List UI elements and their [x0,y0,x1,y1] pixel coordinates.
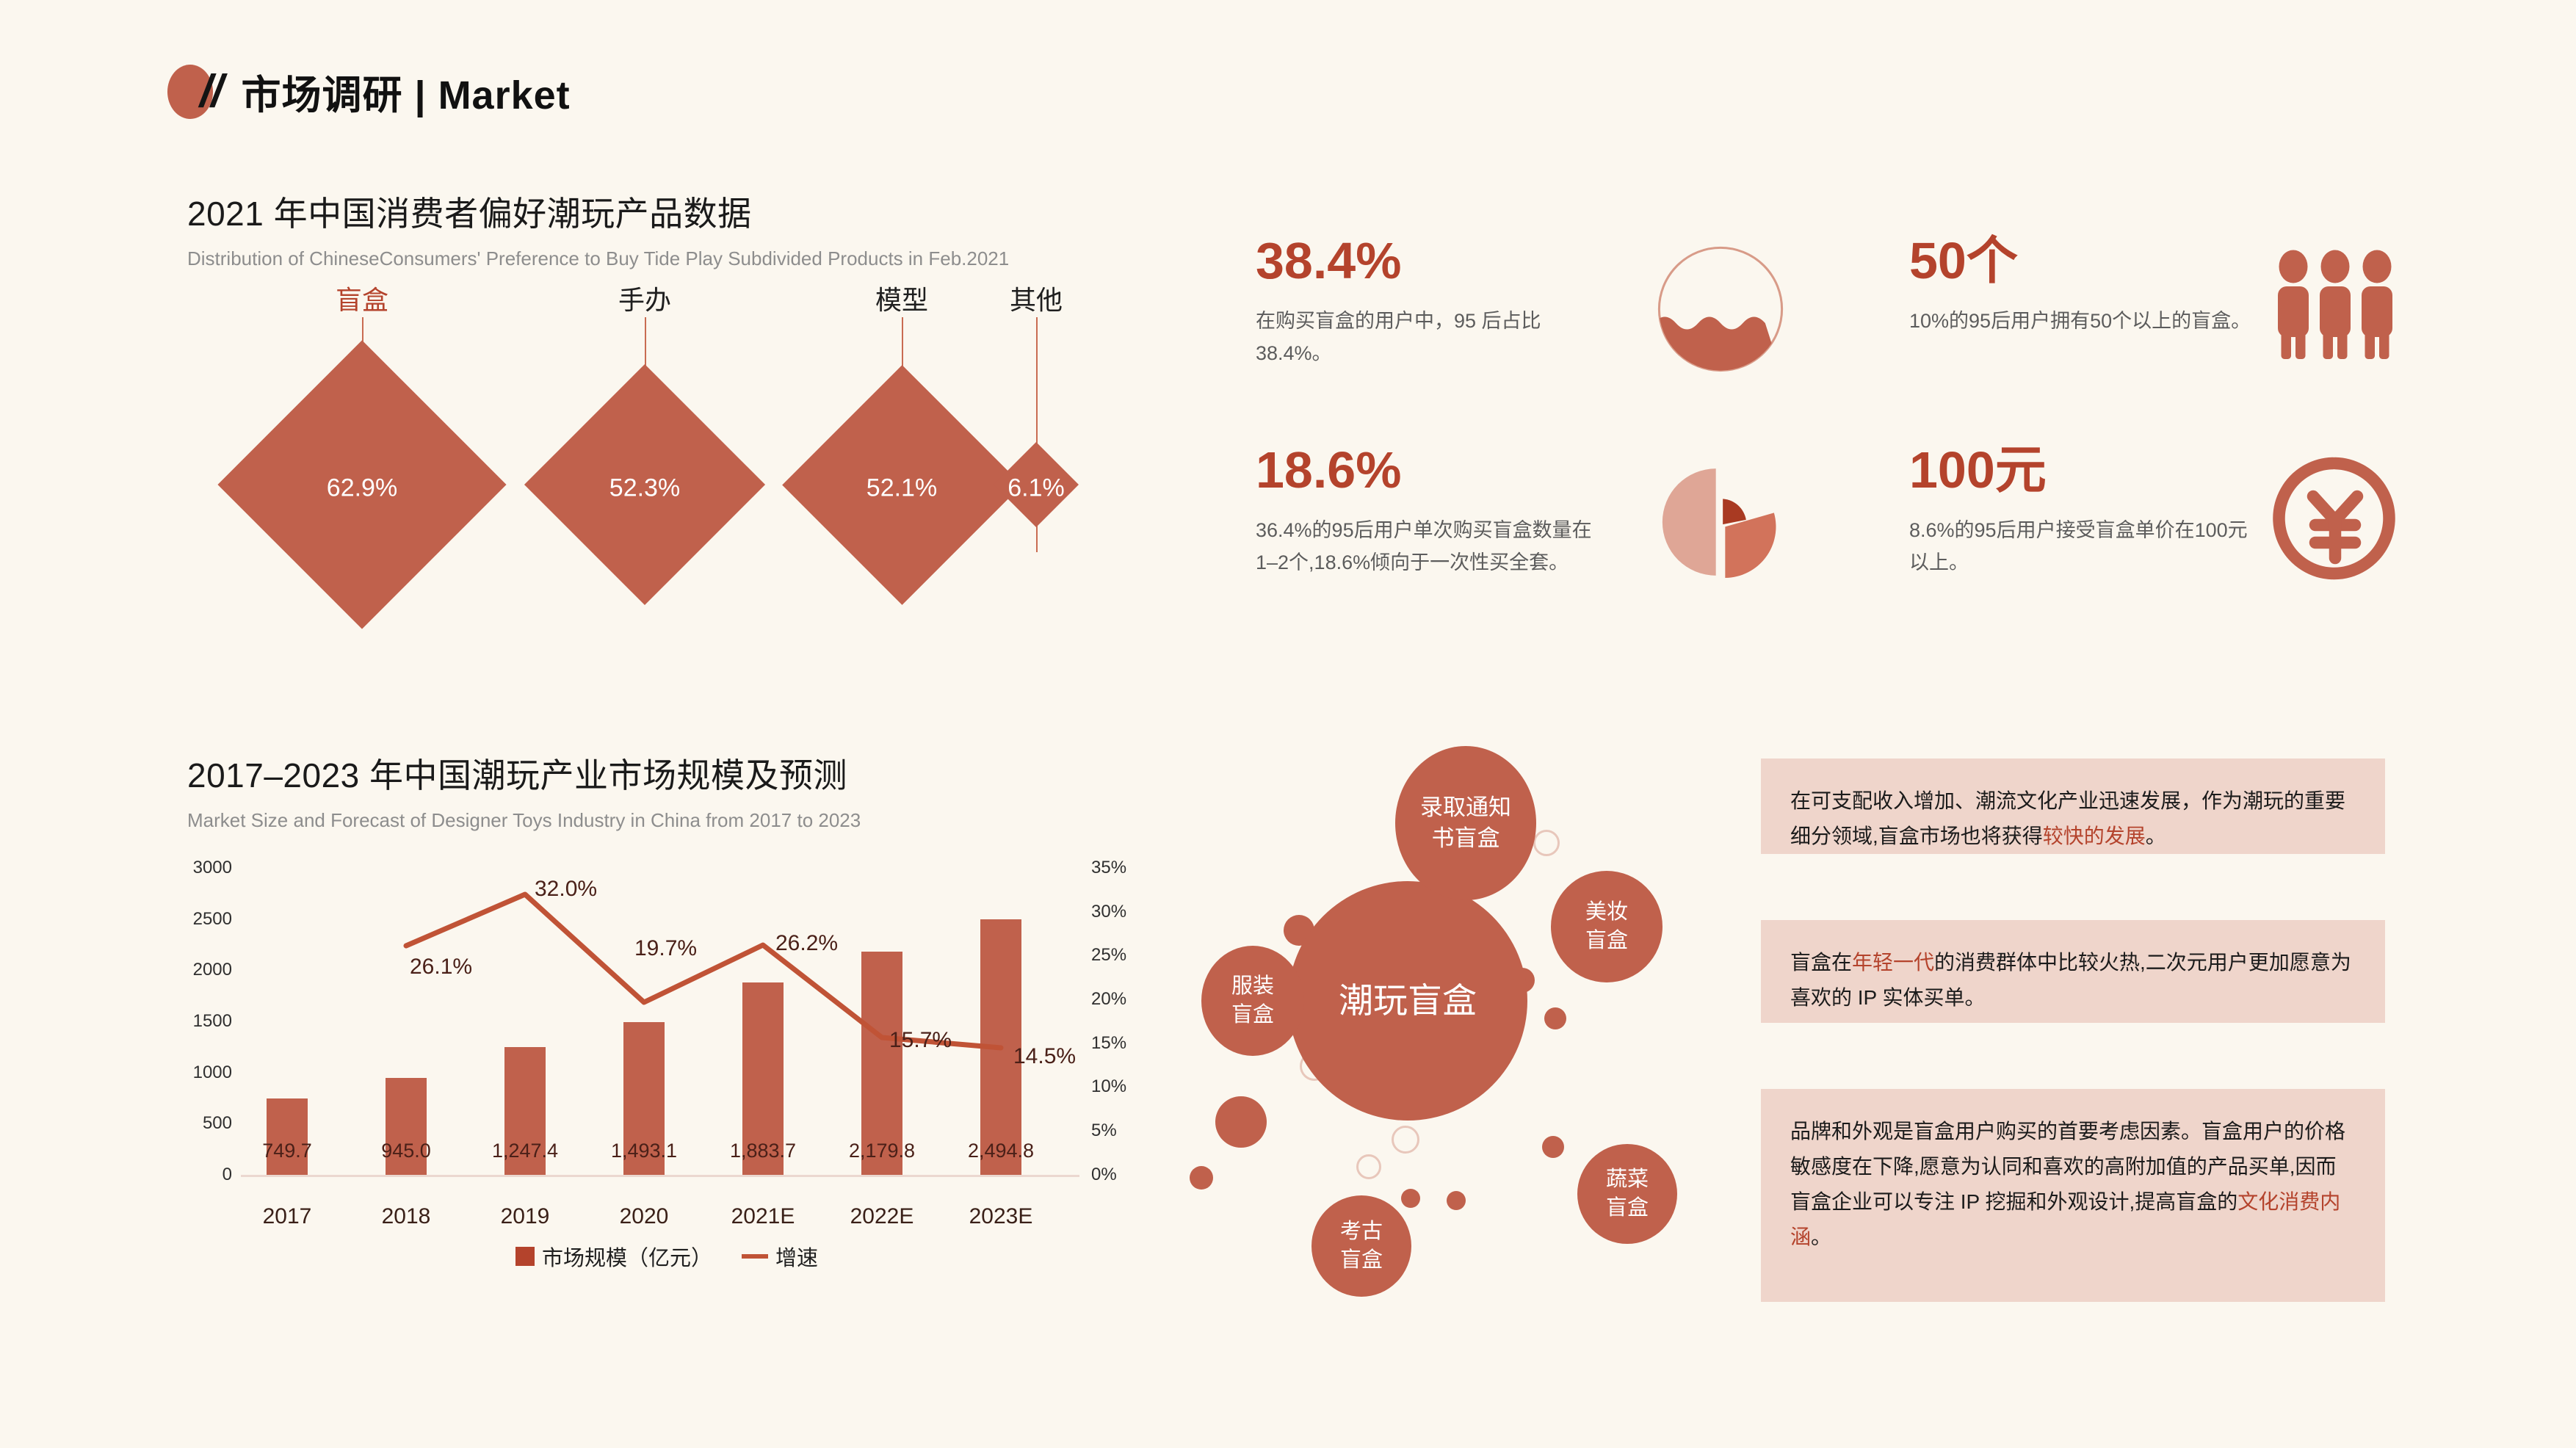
note-highlight-1: 年轻一代 [1852,951,1934,974]
bubble-ring-6 [1533,830,1560,856]
bar-value-2019: 1,247.4 [492,1140,558,1162]
note-suffix-0: 。 [2146,825,2166,847]
legend-square-icon [515,1247,535,1266]
bubble-vegetable: 蔬菜 盲盒 [1577,1144,1677,1244]
kpi-desc-0: 在购买盲盒的用户中，95 后占比 38.4%。 [1256,305,1601,369]
bubble-clothing: 服装 盲盒 [1201,946,1304,1056]
kpi-desc-3: 8.6%的95后用户接受盲盒单价在100元以上。 [1909,515,2254,579]
bubble-dot-7 [1401,1189,1420,1208]
legend-line-icon [742,1254,768,1259]
kpi-desc-2: 36.4%的95后用户单次购买盲盒数量在1–2个,18.6%倾向于一次性买全套。 [1256,515,1601,579]
bubble-dot-6 [1542,1136,1564,1158]
bar-value-2021E: 1,883.7 [730,1140,796,1162]
diamond-chart: 盲盒 手办 模型 其他 62.9% 52.3% 52.1% 6.1% [167,279,1195,690]
bubble-diagram: 潮玩盲盒 录取通知 书盲盒 美妆 盲盒 服装 盲盒 考古 盲盒 蔬菜 盲盒 [1168,734,1770,1248]
market-title: 2017–2023 年中国潮玩产业市场规模及预测 [187,749,1164,797]
bar-value-2020: 1,493.1 [611,1140,677,1162]
x-label-2020: 2020 [620,1204,669,1229]
bar-value-2017: 749.7 [262,1140,312,1162]
bubble-dot-8 [1447,1191,1466,1210]
diamond-label-0: 盲盒 [336,279,388,317]
market-section-heading: 2017–2023 年中国潮玩产业市场规模及预测 Market Size and… [187,749,1164,832]
kpi-value-2: 18.6% [1256,444,1711,496]
market-size-chart: 0 500 1000 1500 2000 2500 3000 0% 5% 10%… [167,852,1166,1197]
bubble-dot-5 [1544,1007,1566,1029]
kpi-card-2: 18.6% 36.4%的95后用户单次购买盲盒数量在1–2个,18.6%倾向于一… [1256,444,1711,579]
bubble-admission-notice: 录取通知 书盲盒 [1395,746,1536,900]
bubble-makeup: 美妆 盲盒 [1551,871,1663,982]
market-subtitle: Market Size and Forecast of Designer Toy… [187,809,1164,832]
note-text-1: 盲盒在 [1790,951,1852,974]
bubble-ring-5 [1356,1154,1381,1179]
diamond-label-1: 手办 [618,279,671,317]
kpi-desc-1: 10%的95后用户拥有50个以上的盲盒。 [1909,305,2254,338]
bar-value-2022E: 2,179.8 [849,1140,915,1162]
diamond-value-3: 6.1% [1007,474,1065,503]
kpi-card-0: 38.4% 在购买盲盒的用户中，95 后占比 38.4%。 [1256,235,1711,369]
legend-item-market-size: 市场规模（亿元） [515,1241,712,1272]
note-card-2: 品牌和外观是盲盒用户购买的首要考虑因素。盲盒用户的价格敏感度在下降,愿意为认同和… [1761,1089,2385,1302]
bar-value-2018: 945.0 [381,1140,431,1162]
note-suffix-2: 。 [1811,1226,1831,1248]
diamond-label-3: 其他 [1010,279,1063,317]
x-label-2017: 2017 [263,1204,312,1229]
exploded-pie-icon [1651,452,1790,592]
x-label-2018: 2018 [382,1204,431,1229]
legend-item-growth: 增速 [742,1241,818,1272]
diamond-value-2: 52.1% [866,474,937,503]
diamond-label-2: 模型 [875,279,928,317]
yen-circle-icon [2269,452,2401,584]
preference-title: 2021 年中国消费者偏好潮玩产品数据 [187,187,1164,236]
x-label-2021E: 2021E [731,1204,795,1229]
bubble-dot-3 [1190,1166,1213,1190]
water-fill-circle-icon [1651,239,1790,379]
x-label-2023E: 2023E [969,1204,1033,1229]
chart-legend: 市场规模（亿元） 增速 [167,1241,1166,1272]
diamond-value-1: 52.3% [609,474,680,503]
x-label-2019: 2019 [501,1204,550,1229]
preference-subtitle: Distribution of ChineseConsumers' Prefer… [187,247,1164,270]
bubble-ring-4 [1392,1126,1419,1154]
growth-label-2018: 26.1% [410,955,472,980]
legend-label-market-size: 市场规模（亿元） [542,1241,712,1272]
diamond-value-0: 62.9% [327,474,397,503]
preference-section-heading: 2021 年中国消费者偏好潮玩产品数据 Distribution of Chin… [187,187,1164,270]
bar-value-2023E: 2,494.8 [968,1140,1034,1162]
growth-label-2023E: 14.5% [1013,1044,1076,1069]
three-people-icon [2269,242,2401,374]
growth-label-2019: 32.0% [535,877,597,902]
growth-label-2021E: 26.2% [775,931,838,956]
note-card-1: 盲盒在年轻一代的消费群体中比较火热,二次元用户更加愿意为喜欢的 IP 实体买单。 [1761,920,2385,1023]
page-header: // 市场调研 | Market [167,62,571,120]
note-card-0: 在可支配收入增加、潮流文化产业迅速发展，作为潮玩的重要细分领域,盲盒市场也将获得… [1761,759,2385,854]
double-slash-icon: // [200,65,222,117]
note-highlight-0: 较快的发展 [2043,825,2146,847]
page-title: 市场调研 | Market [241,62,570,120]
kpi-value-0: 38.4% [1256,235,1711,286]
x-label-2022E: 2022E [850,1204,914,1229]
infographic-page: // 市场调研 | Market 2021 年中国消费者偏好潮玩产品数据 Dis… [0,0,2576,1448]
growth-label-2020: 19.7% [634,936,697,961]
bubble-archaeology: 考古 盲盒 [1311,1195,1411,1297]
legend-label-growth: 增速 [775,1241,818,1272]
bubble-dot-2 [1215,1096,1267,1148]
growth-label-2022E: 15.7% [889,1028,952,1053]
bubble-center: 潮玩盲盒 [1288,881,1527,1121]
